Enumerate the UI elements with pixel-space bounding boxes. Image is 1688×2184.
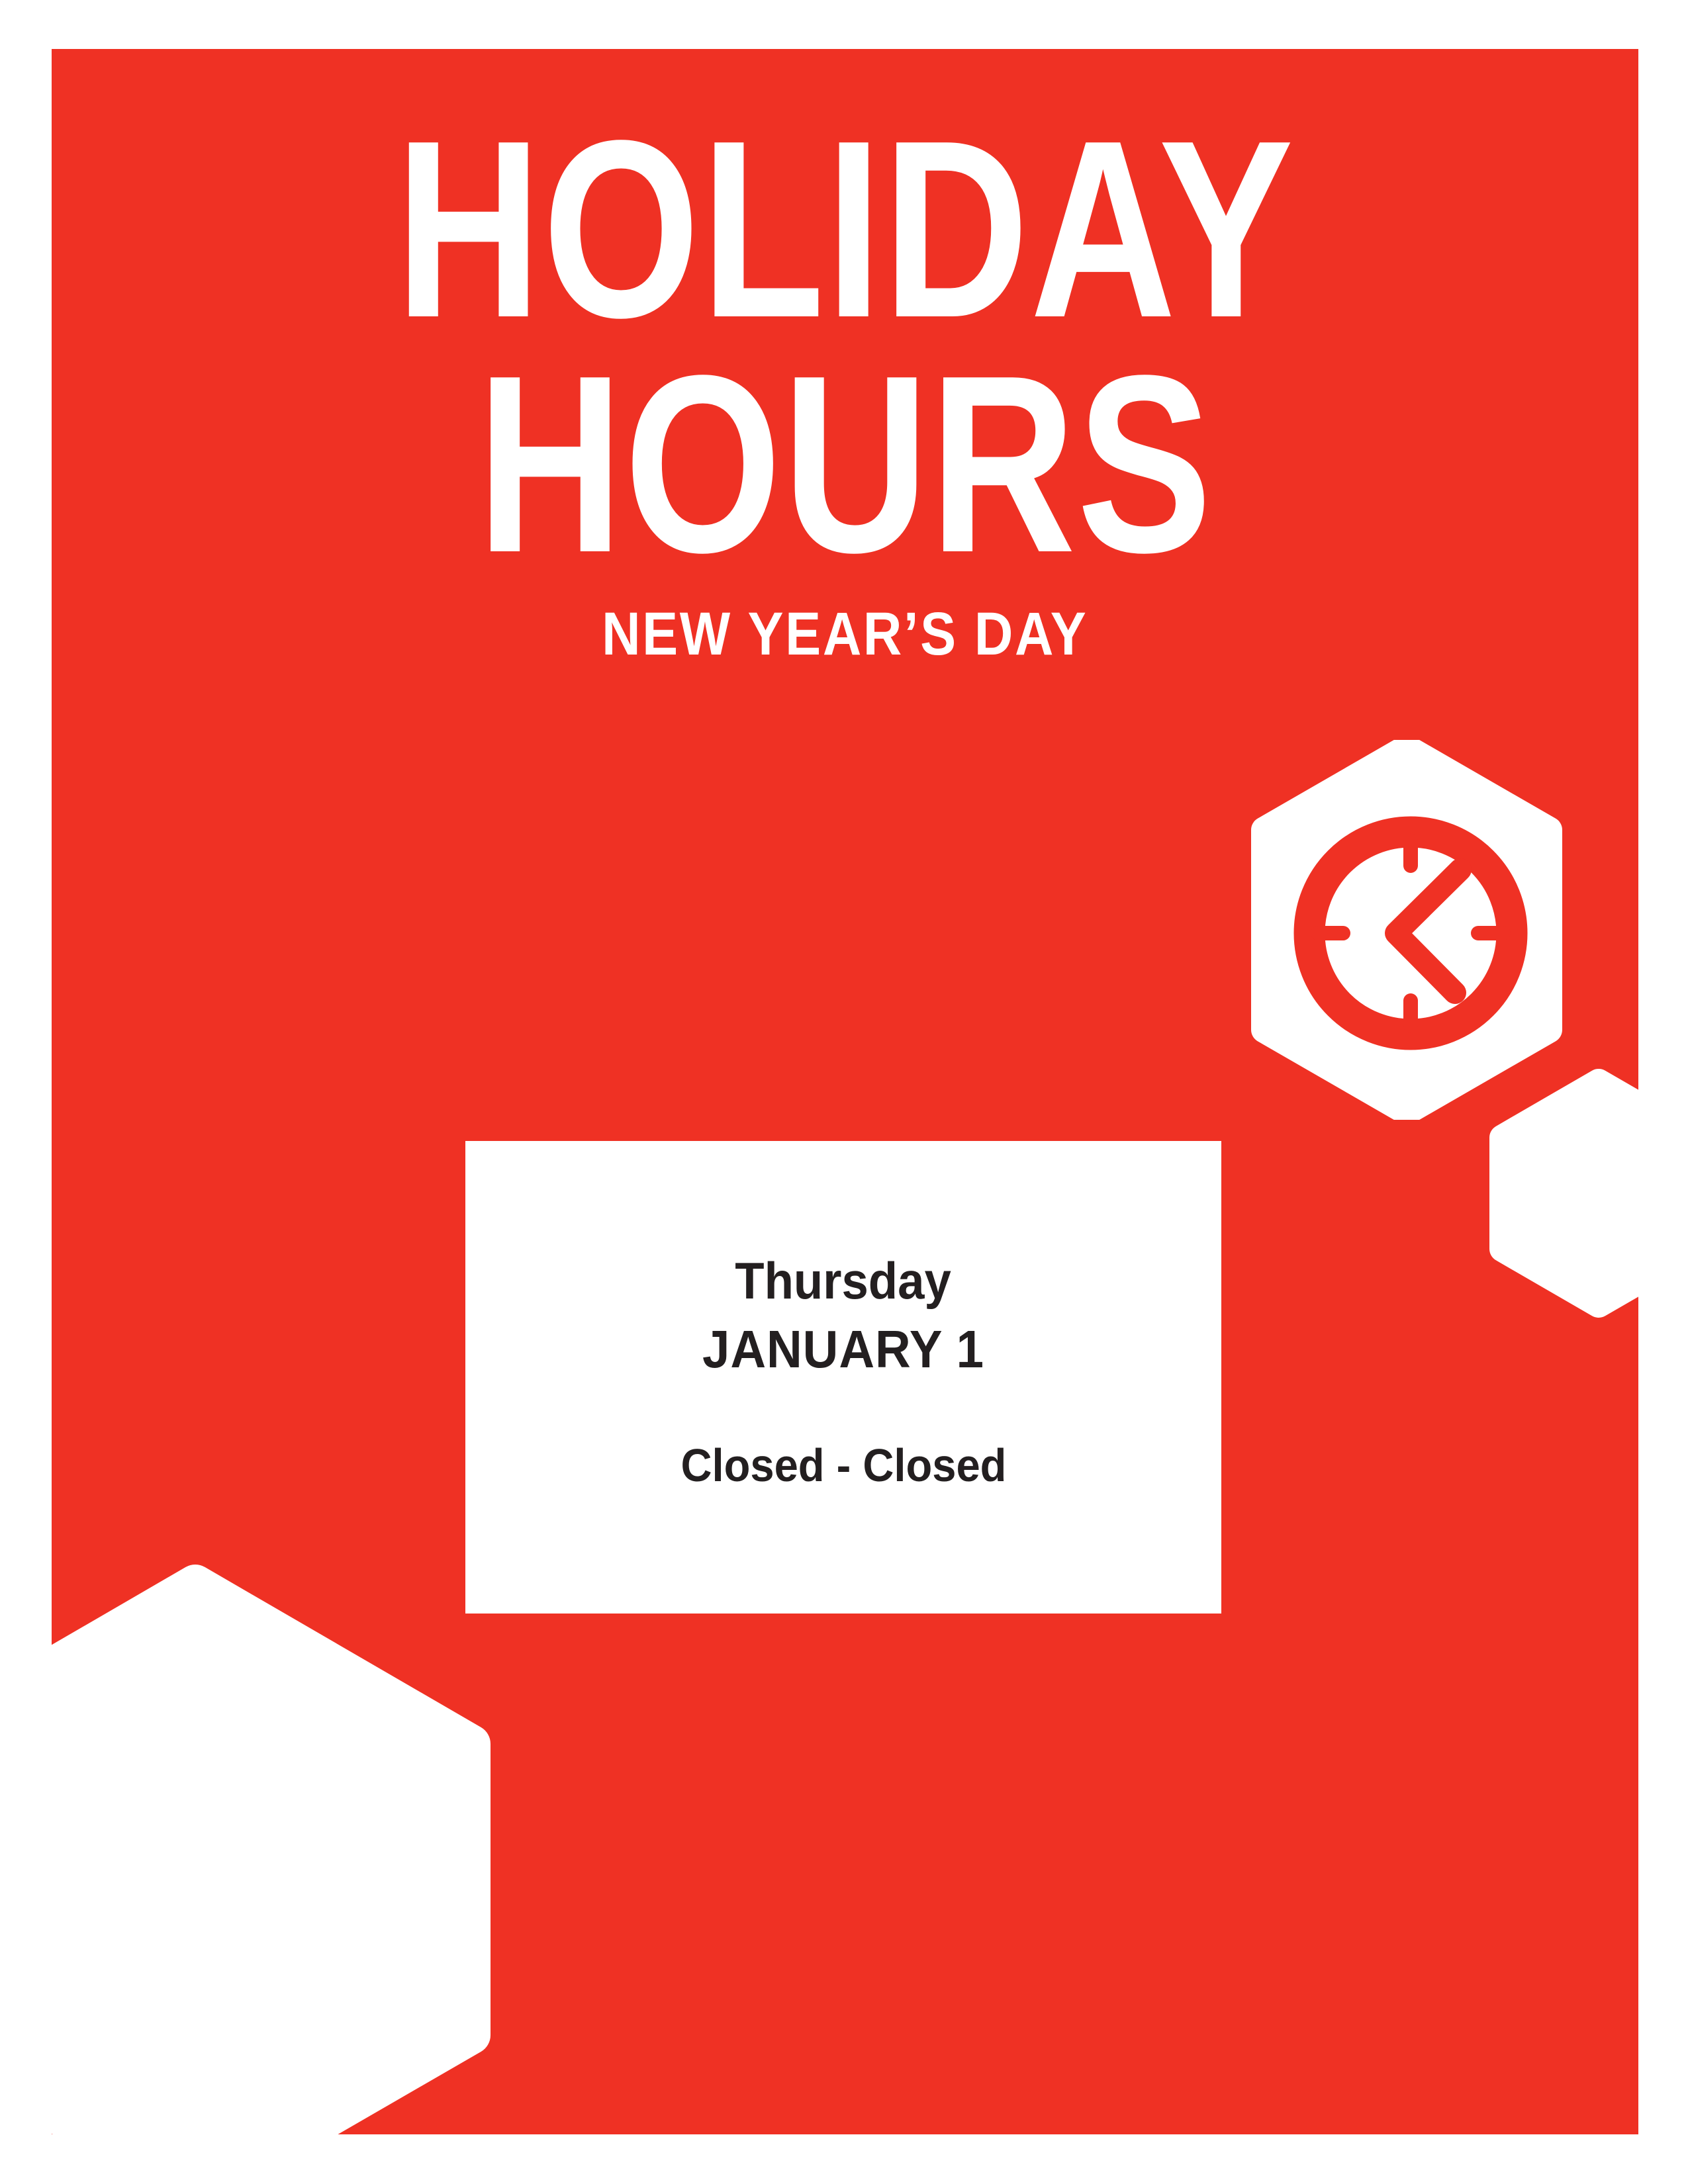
headline-line-hours: HOURS — [211, 347, 1480, 580]
schedule-hours: Closed - Closed — [680, 1442, 1006, 1489]
poster-headline: HOLIDAY HOURS — [52, 113, 1638, 580]
subtitle-text: NEW YEAR’S DAY — [602, 604, 1088, 664]
headline-line-holiday: HOLIDAY — [211, 113, 1480, 345]
schedule-card: Thursday JANUARY 1 Closed - Closed — [465, 1141, 1221, 1614]
schedule-day-of-week: Thursday — [735, 1255, 952, 1308]
schedule-date: JANUARY 1 — [702, 1322, 984, 1377]
poster-subtitle: NEW YEAR’S DAY — [52, 604, 1638, 664]
hexagon-clock-icon — [1250, 740, 1564, 1120]
holiday-hours-poster: HOLIDAY HOURS NEW YEAR’S DAY Thursday JA… — [0, 0, 1688, 2184]
